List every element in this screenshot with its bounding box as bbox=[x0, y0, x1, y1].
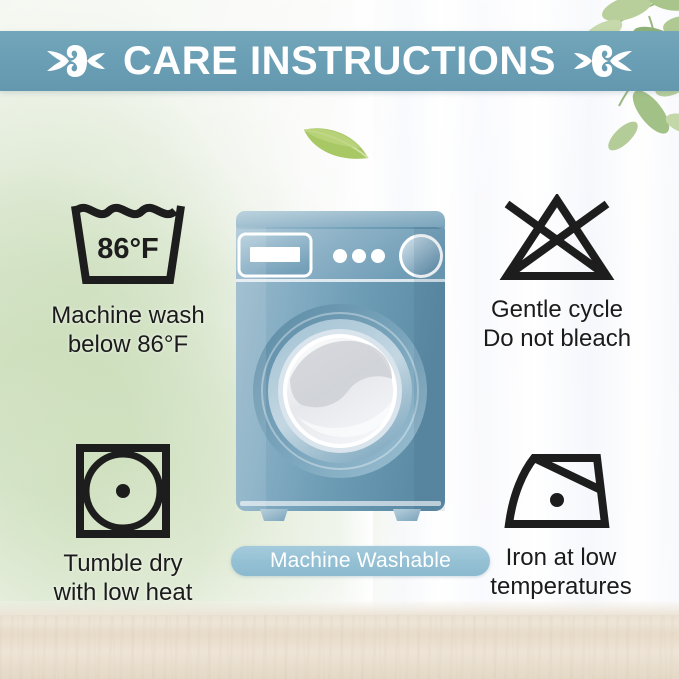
care-icon-caption: Machine wash below 86°F bbox=[8, 301, 248, 360]
care-icon-do-not-bleach: Gentle cycle Do not bleach bbox=[436, 194, 678, 354]
fleur-de-lis-right-icon bbox=[574, 41, 640, 81]
page-title: CARE INSTRUCTIONS bbox=[123, 41, 556, 81]
wash-tub-icon: 86°F bbox=[65, 196, 191, 292]
do-not-bleach-triangle-icon bbox=[497, 194, 617, 286]
care-icon-iron: Iron at low temperatures bbox=[444, 450, 678, 602]
fleur-de-lis-left-icon bbox=[39, 41, 105, 81]
care-instructions-graphic: CARE INSTRUCTIONS bbox=[0, 0, 679, 679]
wash-temperature-text: 86°F bbox=[97, 233, 159, 265]
wash-tub-icon-wrap: 86°F bbox=[8, 196, 248, 292]
floating-leaf-icon bbox=[300, 118, 372, 166]
tumble-dry-low-icon bbox=[74, 442, 172, 540]
badge-label: Machine Washable bbox=[270, 549, 451, 573]
care-icon-caption: Tumble dry with low heat bbox=[10, 549, 236, 608]
care-icon-tumble-dry: Tumble dry with low heat bbox=[10, 442, 236, 608]
iron-icon-wrap bbox=[444, 450, 678, 534]
table-wood-grain bbox=[0, 615, 679, 679]
washing-machine-illustration bbox=[228, 209, 453, 529]
foliage-branch bbox=[499, 0, 679, 186]
care-icon-machine-wash: 86°F Machine wash below 86°F bbox=[8, 196, 248, 360]
care-icon-caption: Gentle cycle Do not bleach bbox=[436, 295, 678, 354]
care-icon-caption: Iron at low temperatures bbox=[444, 543, 678, 602]
header-banner: CARE INSTRUCTIONS bbox=[0, 31, 679, 91]
iron-low-heat-icon bbox=[501, 450, 621, 534]
do-not-bleach-icon-wrap bbox=[436, 194, 678, 286]
tumble-dry-icon-wrap bbox=[10, 442, 236, 540]
